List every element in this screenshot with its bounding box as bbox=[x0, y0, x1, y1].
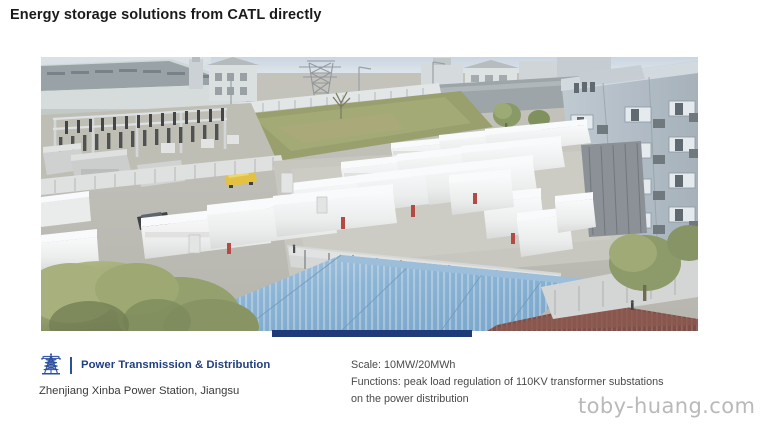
station-name: Zhenjiang Xinba Power Station, Jiangsu bbox=[39, 385, 270, 397]
image-progress-fill bbox=[272, 330, 472, 337]
station-photo bbox=[41, 57, 698, 331]
category-label: Power Transmission & Distribution bbox=[81, 359, 270, 371]
watermark: toby-huang.com bbox=[578, 394, 755, 418]
category-row: Power Transmission & Distribution bbox=[38, 352, 270, 378]
photo-artwork bbox=[41, 57, 698, 331]
spec-line-scale: Scale: 10MW/20MWh bbox=[351, 357, 664, 374]
page-title: Energy storage solutions from CATL direc… bbox=[10, 7, 322, 23]
slide: Energy storage solutions from CATL direc… bbox=[0, 0, 768, 432]
spec-line-functions: Functions: peak load regulation of 110KV… bbox=[351, 374, 664, 391]
vertical-divider bbox=[70, 357, 72, 374]
transmission-tower-glyph bbox=[38, 352, 64, 378]
footer-left: Power Transmission & Distribution Zhenji… bbox=[38, 352, 270, 397]
transmission-tower-icon bbox=[38, 352, 64, 378]
image-progress-track[interactable] bbox=[272, 330, 472, 337]
